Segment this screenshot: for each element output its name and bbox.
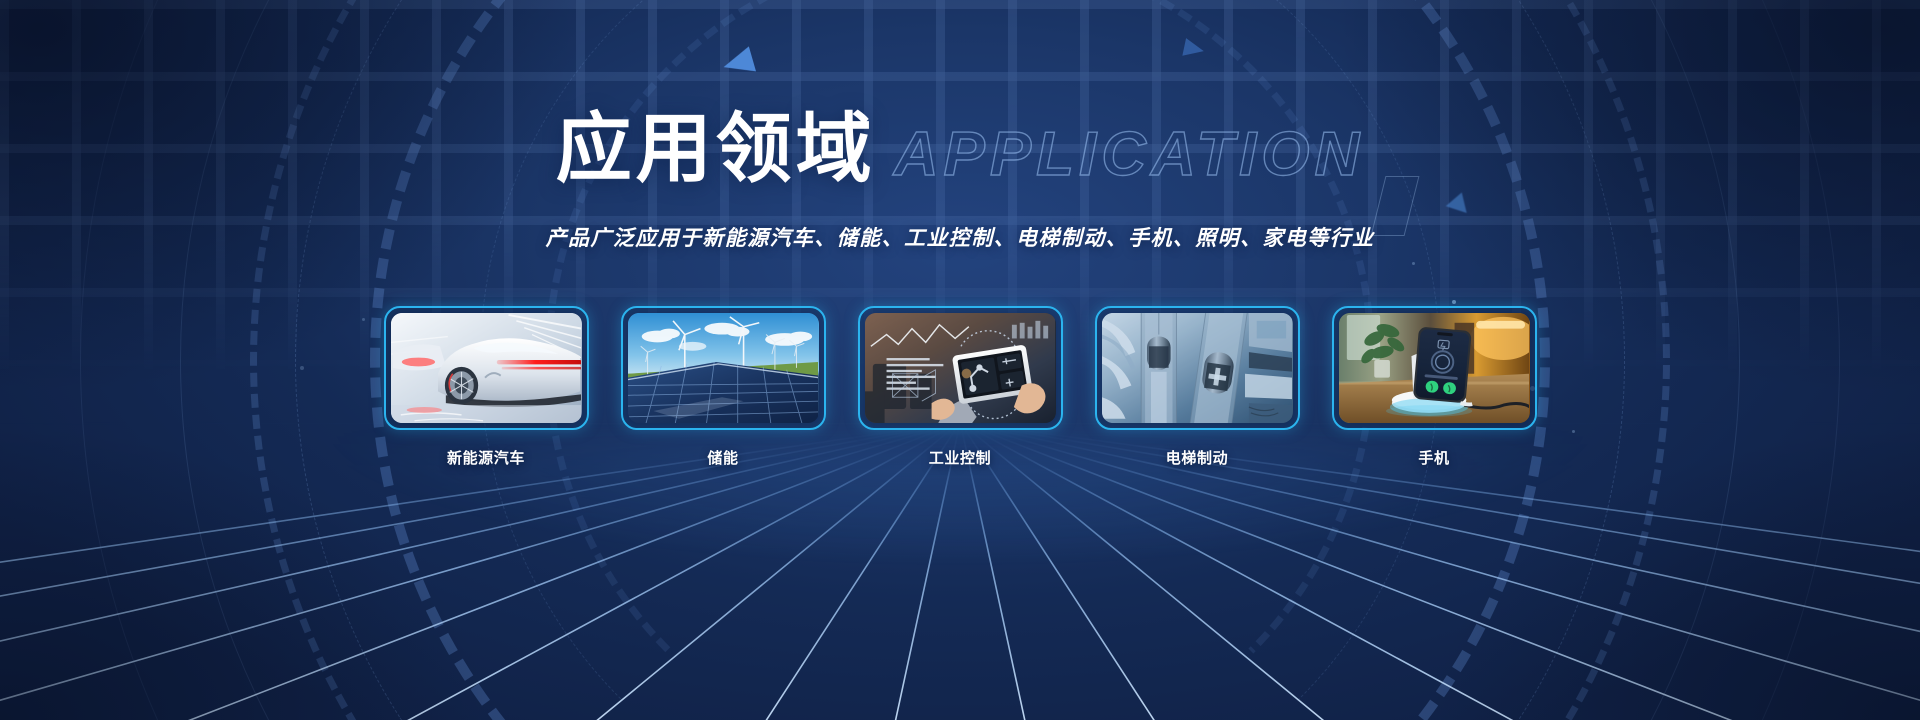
card-frame[interactable]: [858, 306, 1063, 430]
banner-subtitle: 产品广泛应用于新能源汽车、储能、工业控制、电梯制动、手机、照明、家电等行业: [0, 222, 1920, 252]
card-frame[interactable]: [384, 306, 589, 430]
card-label: 工业控制: [858, 447, 1063, 468]
card-label: 新能源汽车: [384, 447, 589, 468]
application-banner: 应用领域 APPLICATION 产品广泛应用于新能源汽车、储能、工业控制、电梯…: [0, 0, 1920, 720]
banner-heading: 应用领域 APPLICATION: [0, 112, 1920, 188]
application-card[interactable]: 电梯制动: [1095, 306, 1300, 468]
card-frame[interactable]: [1095, 306, 1300, 430]
card-label: 电梯制动: [1095, 447, 1300, 468]
application-card[interactable]: 储能: [621, 306, 826, 468]
industrial-control-illustration: [865, 313, 1056, 423]
card-label: 储能: [621, 447, 826, 468]
solar-wind-illustration: [628, 313, 819, 423]
card-frame[interactable]: [621, 306, 826, 430]
application-card[interactable]: 新能源汽车: [384, 306, 589, 468]
phone-charger-illustration: [1339, 313, 1530, 423]
page-title: 应用领域: [556, 112, 876, 188]
elevator-illustration: [1102, 313, 1293, 423]
ev-car-illustration: [391, 313, 582, 423]
wireless-charging-phone-photo: [1339, 313, 1530, 423]
ev-car-photo: [391, 313, 582, 423]
page-title-english: APPLICATION: [894, 124, 1365, 186]
glass-elevator-photo: [1102, 313, 1293, 423]
industrial-tablet-photo: [865, 313, 1056, 423]
application-card[interactable]: 手机: [1332, 306, 1537, 468]
card-label: 手机: [1332, 447, 1537, 468]
solar-wind-farm-photo: [628, 313, 819, 423]
card-frame[interactable]: [1332, 306, 1537, 430]
application-card[interactable]: 工业控制: [858, 306, 1063, 468]
application-card-list: 新能源汽车: [0, 306, 1920, 468]
